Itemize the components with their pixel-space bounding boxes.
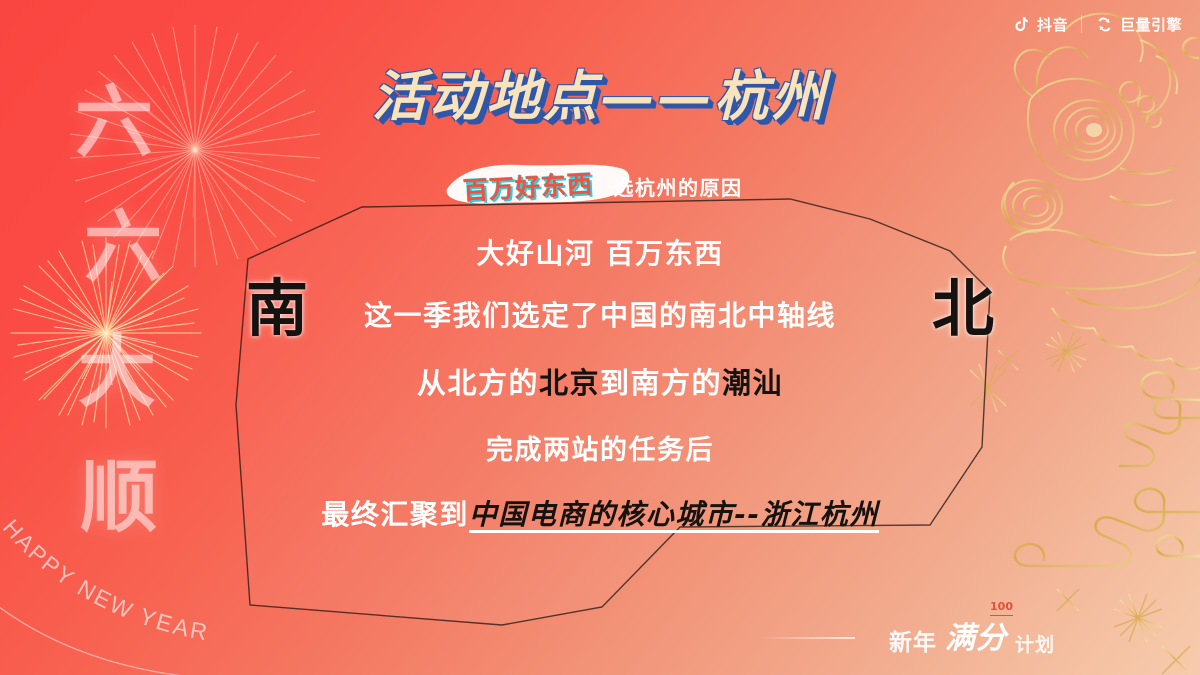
copy-line-1: 大好山河 百万东西 xyxy=(200,232,1000,272)
left-calligraphy-decor: 六 六 大 顺 xyxy=(34,86,194,536)
copy-line-5-seg-a: 最终汇聚到 xyxy=(321,498,469,531)
footer-divider-rule xyxy=(760,637,855,639)
logo-separator xyxy=(1081,15,1082,33)
calligraphy-char-2: 六 xyxy=(84,211,162,286)
footer-brand: 新年 满分 100 计划 xyxy=(889,613,1055,657)
copy-line-5: 最终汇聚到中国电商的核心城市--浙江杭州 xyxy=(200,493,1000,533)
juliang-swirl-icon xyxy=(1095,15,1114,34)
copy-line-4-text: 完成两站的任务后 xyxy=(486,435,714,466)
copy-line-3-seg-chaoshan: 潮汕 xyxy=(722,366,783,400)
footer-score-wrap: 满分 100 xyxy=(945,613,1007,657)
calligraphy-char-4: 顺 xyxy=(80,461,158,536)
copy-line-2: 这一季我们选定了中国的南北中轴线 xyxy=(200,294,1000,334)
copy-line-2-text: 这一季我们选定了中国的南北中轴线 xyxy=(364,299,836,332)
copy-line-5-emphasis: 中国电商的核心城市--浙江杭州 xyxy=(469,500,879,533)
copy-line-3: 从北方的北京到南方的潮汕 xyxy=(200,360,1000,402)
douyin-logo[interactable]: 抖音 xyxy=(1012,14,1068,35)
juliang-logo[interactable]: 巨量引擎 xyxy=(1095,14,1182,35)
footer-hundred-mark: 100 xyxy=(990,600,1013,613)
copy-line-3-seg-beijing: 北京 xyxy=(539,366,600,400)
copy-line-3-seg-a: 从北方的 xyxy=(417,366,539,400)
badge-brush-container: 百万好东西 xyxy=(457,168,599,204)
copy-line-4: 完成两站的任务后 xyxy=(200,428,1000,467)
header-logos: 抖音 巨量引擎 xyxy=(1012,10,1182,38)
footer-score-label: 满分 xyxy=(945,621,1007,656)
footer-plan-label: 计划 xyxy=(1015,630,1055,657)
badge-row: 百万好东西 选杭州的原因 xyxy=(0,168,1200,204)
svg-text:HAPPY NEW YEAR: HAPPY NEW YEAR xyxy=(0,514,212,645)
decorative-arc-line xyxy=(0,520,278,675)
copy-line-3-seg-c: 到南方的 xyxy=(600,366,722,400)
douyin-note-icon xyxy=(1012,15,1031,34)
footer-new-year-label: 新年 xyxy=(889,623,937,657)
body-copy: 大好山河 百万东西 这一季我们选定了中国的南北中轴线 从北方的北京到南方的潮汕 … xyxy=(200,232,1000,533)
copy-line-1-text: 大好山河 百万东西 xyxy=(476,237,723,270)
page-title: 活动地点——杭州 xyxy=(0,52,1200,131)
calligraphy-char-3: 大 xyxy=(78,336,156,411)
douyin-logo-label: 抖音 xyxy=(1037,14,1068,35)
juliang-logo-label: 巨量引擎 xyxy=(1120,14,1182,35)
